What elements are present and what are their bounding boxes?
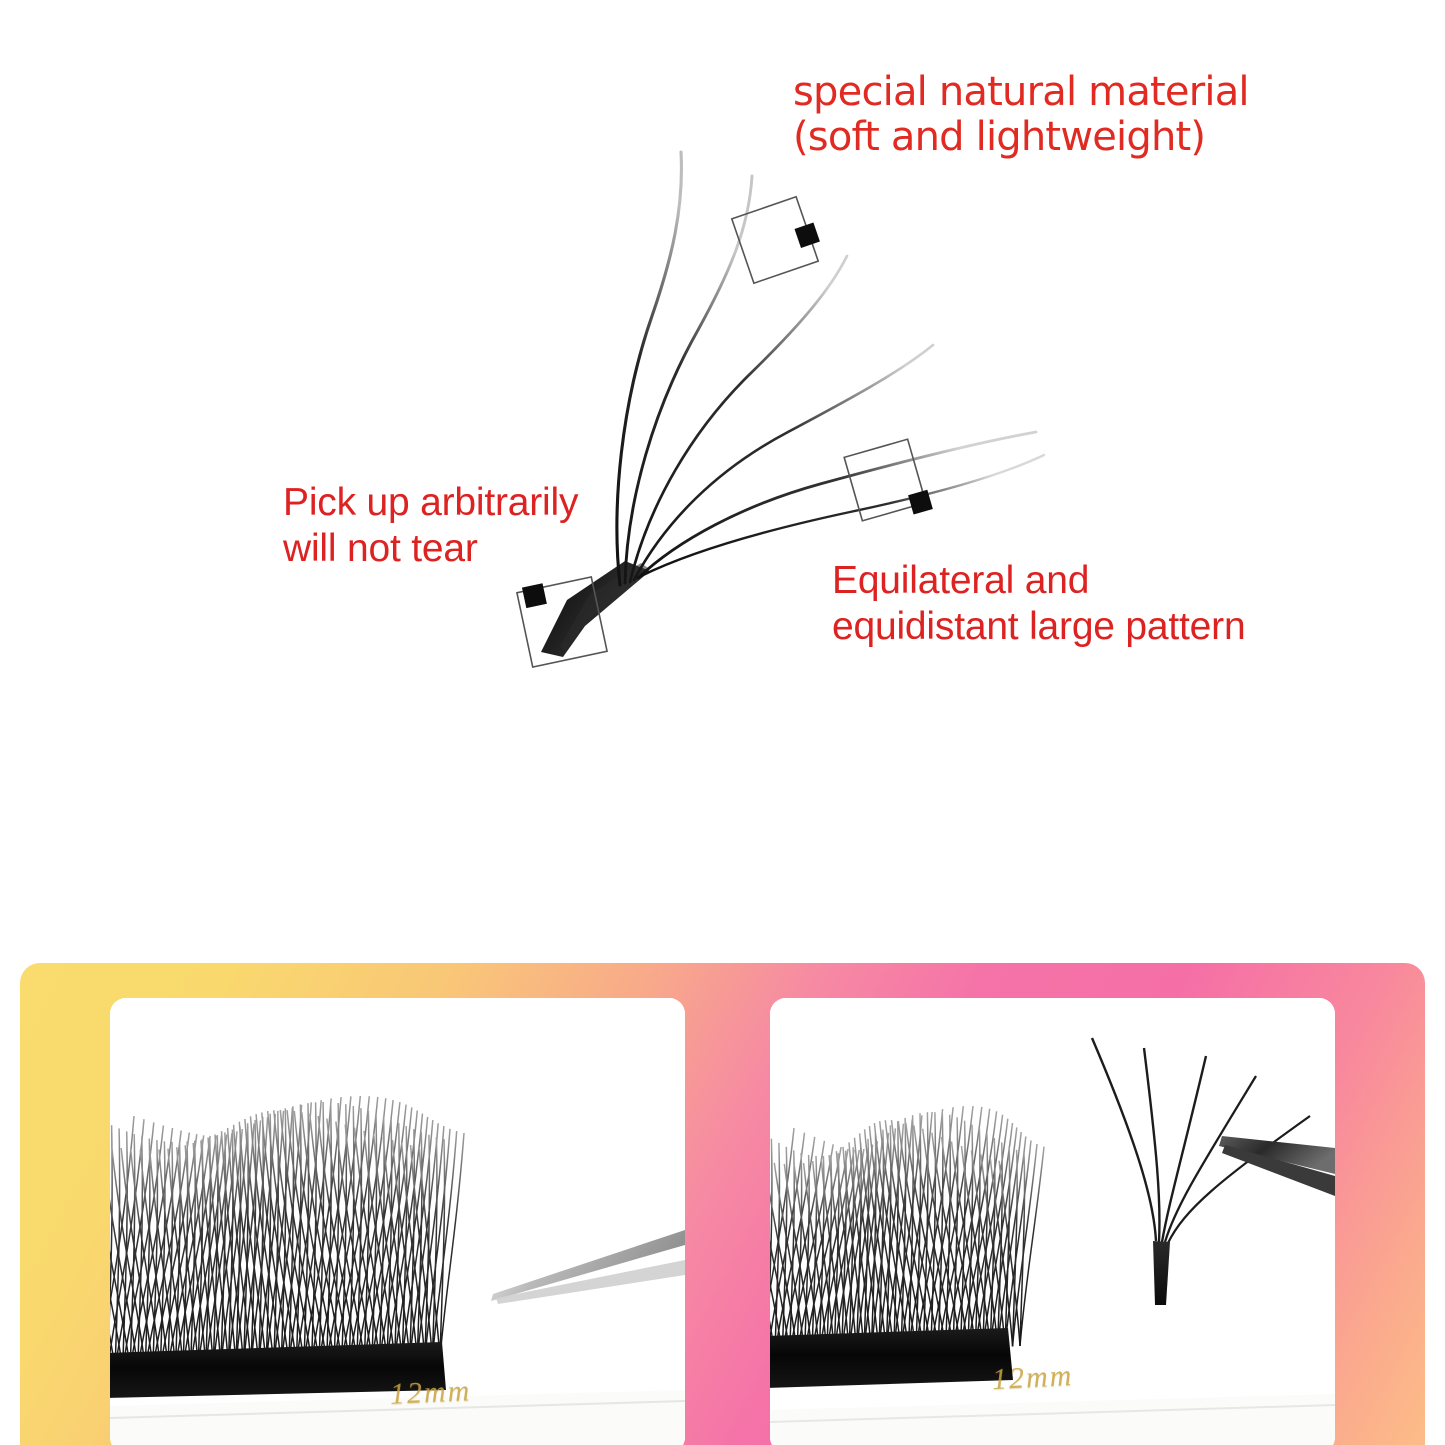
- lash-fan-diagram-section: special natural material (soft and light…: [0, 0, 1445, 737]
- banner-headline: EASY TO USE & SAVING TIME: [150, 770, 1243, 856]
- size-label-left: 12mm: [389, 1374, 472, 1412]
- photo-card-lash-fan-pickup: 12mm: [770, 998, 1335, 1445]
- callout-special-natural-material: special natural material (soft and light…: [793, 70, 1249, 160]
- banner-subheadline: No skills needed.Get blooming lash effec…: [152, 862, 876, 904]
- callout-equilateral-equidistant: Equilateral and equidistant large patter…: [832, 558, 1245, 649]
- product-photo-panel: 12mm: [20, 963, 1425, 1445]
- product-feature-page: special natural material (soft and light…: [0, 0, 1445, 1445]
- easy-to-use-banner: EASY TO USE & SAVING TIME No skills need…: [0, 737, 1445, 940]
- square-marker-lower-icon: [844, 438, 933, 529]
- square-marker-upper-icon: [732, 194, 826, 283]
- photo-left: 12mm: [110, 998, 685, 1445]
- callout-pick-up-arbitrarily: Pick up arbitrarily will not tear: [283, 480, 578, 571]
- fan-fibers: [617, 152, 1044, 585]
- size-label-right: 12mm: [991, 1359, 1074, 1397]
- photo-card-lash-tray-tweezers: 12mm: [110, 998, 685, 1445]
- photo-right: 12mm: [770, 998, 1335, 1445]
- fan-base: [541, 561, 650, 657]
- banner-content: EASY TO USE & SAVING TIME No skills need…: [0, 737, 1445, 940]
